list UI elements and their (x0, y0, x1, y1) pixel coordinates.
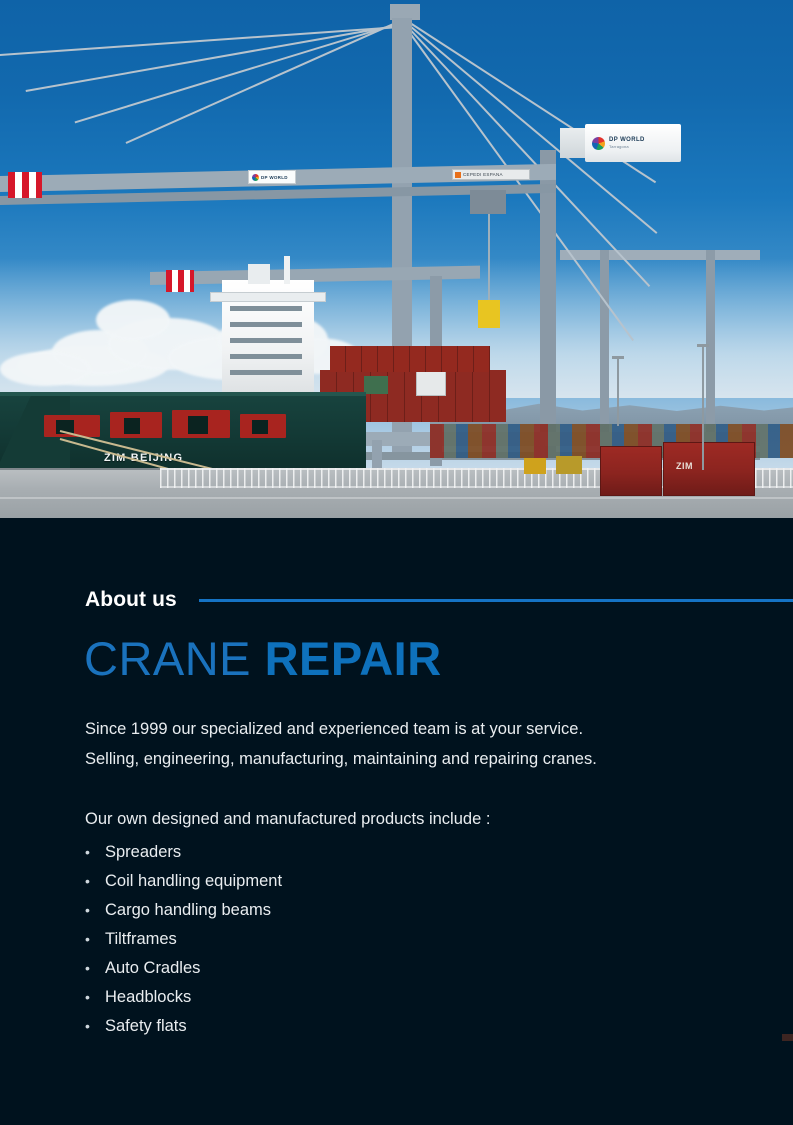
list-item-label: Spreaders (105, 838, 181, 867)
crane-mast (540, 150, 556, 460)
page-root: DP WORLD Tarragona DP WORLD CEPEDI ESPAN… (0, 0, 793, 1125)
crane-trolley (470, 190, 506, 214)
products-heading: Our own designed and manufactured produc… (85, 810, 490, 829)
list-item: • Headblocks (85, 983, 282, 1012)
crane-boom-tip-marking (166, 270, 194, 292)
hull-opening (252, 420, 268, 434)
page-title-light: CRANE (84, 632, 251, 685)
sign-logo-icon (455, 172, 461, 178)
hull-opening (188, 416, 208, 434)
light-pole (702, 344, 704, 470)
about-divider-rule (199, 599, 793, 602)
crane-spreader (478, 300, 500, 328)
bullet-icon: • (85, 983, 105, 1012)
list-item-label: Auto Cradles (105, 954, 200, 983)
dp-world-brand-text: DP WORLD (609, 137, 645, 143)
about-label: About us (85, 588, 177, 612)
about-heading-row: About us (85, 588, 793, 612)
light-pole-head-icon (697, 344, 709, 347)
list-item-label: Cargo handling beams (105, 896, 271, 925)
ship-mast (284, 256, 290, 284)
dp-world-sign: DP WORLD Tarragona (585, 124, 681, 162)
bullet-icon: • (85, 838, 105, 867)
ship-window-row (230, 354, 302, 359)
bullet-icon: • (85, 896, 105, 925)
intro-paragraph: Since 1999 our specialized and experienc… (85, 714, 725, 774)
hero-photo: DP WORLD Tarragona DP WORLD CEPEDI ESPAN… (0, 0, 793, 518)
page-title: CRANE REPAIR (84, 635, 442, 682)
terminal-vehicle (556, 456, 582, 474)
light-pole-head-icon (612, 356, 624, 359)
list-item: • Tiltframes (85, 925, 282, 954)
dp-world-sign: DP WORLD (248, 170, 296, 184)
sign-text: CEPEDI ESPANA (463, 172, 503, 177)
terminal-vehicle (524, 458, 546, 474)
ship-window-row (230, 322, 302, 327)
ship-deck-line (0, 392, 366, 396)
list-item: • Safety flats (85, 1012, 282, 1041)
crane-boom-tip-marking (8, 172, 42, 198)
ship-window-row (230, 370, 302, 375)
list-item-label: Coil handling equipment (105, 867, 282, 896)
zim-container-label: ZIM (676, 461, 693, 471)
crane-cable (126, 20, 401, 144)
gantry-crane-beam (560, 250, 760, 260)
products-list: • Spreaders • Coil handling equipment • … (85, 838, 282, 1041)
zim-container: ZIM (663, 442, 755, 496)
ship-window-row (230, 306, 302, 311)
list-item: • Coil handling equipment (85, 867, 282, 896)
bullet-icon: • (85, 1012, 105, 1041)
cloud (0, 352, 90, 386)
list-item: • Spreaders (85, 838, 282, 867)
dp-world-logo-icon (252, 174, 259, 181)
cloud (96, 300, 170, 340)
ship-bridge-wing (210, 292, 326, 302)
zim-container (600, 446, 662, 496)
hull-opening (124, 418, 140, 434)
list-item: • Auto Cradles (85, 954, 282, 983)
list-item-label: Safety flats (105, 1012, 187, 1041)
ship-window-row (230, 338, 302, 343)
dp-world-sub-text: Tarragona (609, 145, 645, 149)
intro-line-2: Selling, engineering, manufacturing, mai… (85, 744, 725, 774)
deck-container-stack (330, 346, 490, 372)
light-pole (617, 356, 619, 426)
dp-world-brand-text: DP WORLD (261, 175, 288, 180)
crane-beam-sign: CEPEDI ESPANA (452, 169, 530, 180)
list-item: • Cargo handling beams (85, 896, 282, 925)
bullet-icon: • (85, 867, 105, 896)
list-item-label: Tiltframes (105, 925, 177, 954)
bullet-icon: • (85, 954, 105, 983)
intro-line-1: Since 1999 our specialized and experienc… (85, 714, 725, 744)
page-title-bold: REPAIR (265, 632, 442, 685)
ship-funnel (248, 264, 270, 284)
about-section: About us CRANE REPAIR Since 1999 our spe… (0, 518, 793, 1125)
dp-world-logo-icon (592, 137, 605, 150)
bullet-icon: • (85, 925, 105, 954)
crane-hoist-rope (488, 214, 490, 304)
crane-cable (26, 24, 401, 92)
page-edge-mark (782, 1034, 793, 1041)
list-item-label: Headblocks (105, 983, 191, 1012)
quay-marking-line (0, 497, 793, 499)
